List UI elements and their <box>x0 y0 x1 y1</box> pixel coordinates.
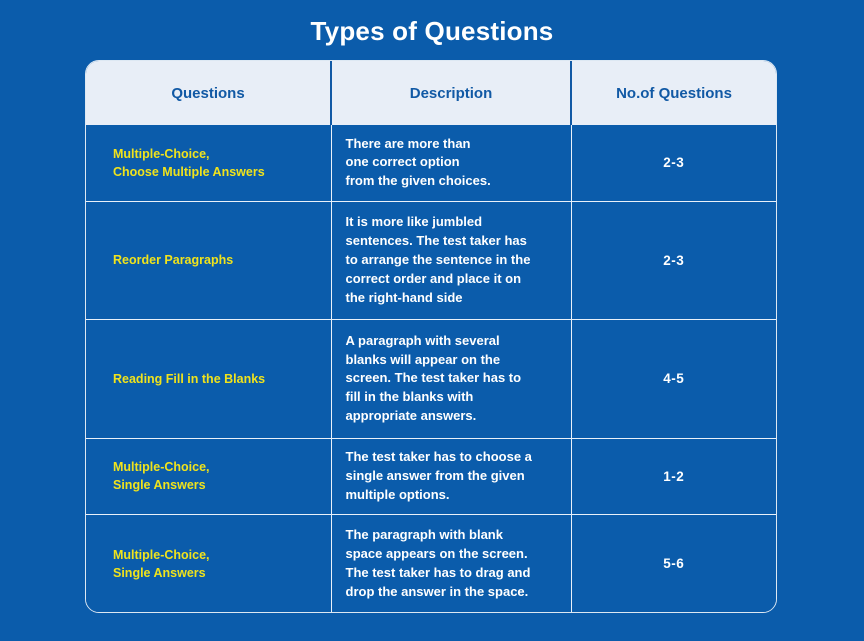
description-line: the right-hand side <box>346 289 565 308</box>
table-row: Multiple-Choice,Choose Multiple AnswersT… <box>86 125 776 201</box>
question-type-line: Multiple-Choice, <box>113 546 323 564</box>
table-header-row: Questions Description No.of Questions <box>86 61 776 125</box>
cell-question-count: 2-3 <box>571 125 776 201</box>
question-type-line: Single Answers <box>113 564 323 582</box>
description-line: blanks will appear on the <box>346 351 565 370</box>
table-body: Multiple-Choice,Choose Multiple AnswersT… <box>86 125 776 612</box>
description-line: to arrange the sentence in the <box>346 251 565 270</box>
description-line: It is more like jumbled <box>346 213 565 232</box>
question-types-table-container: Questions Description No.of Questions Mu… <box>85 60 777 613</box>
description-line: screen. The test taker has to <box>346 369 565 388</box>
description-line: appropriate answers. <box>346 407 565 426</box>
cell-question-type: Reorder Paragraphs <box>86 201 331 319</box>
cell-question-type: Multiple-Choice,Single Answers <box>86 515 331 612</box>
cell-description: The paragraph with blankspace appears on… <box>331 515 571 612</box>
column-header-count: No.of Questions <box>571 61 776 125</box>
column-header-questions: Questions <box>86 61 331 125</box>
description-line: single answer from the given <box>346 467 565 486</box>
table-row: Reorder ParagraphsIt is more like jumble… <box>86 201 776 319</box>
description-line: The test taker has to choose a <box>346 448 565 467</box>
table-header: Questions Description No.of Questions <box>86 61 776 125</box>
description-line: multiple options. <box>346 486 565 505</box>
question-type-line: Reading Fill in the Blanks <box>113 370 323 388</box>
description-line: one correct option <box>346 153 565 172</box>
question-type-line: Reorder Paragraphs <box>113 251 323 269</box>
cell-question-type: Reading Fill in the Blanks <box>86 320 331 438</box>
cell-description: It is more like jumbledsentences. The te… <box>331 201 571 319</box>
description-line: fill in the blanks with <box>346 388 565 407</box>
cell-question-type: Multiple-Choice,Choose Multiple Answers <box>86 125 331 201</box>
description-line: space appears on the screen. <box>346 545 565 564</box>
question-type-line: Multiple-Choice, <box>113 458 323 476</box>
infographic-page: Types of Questions Questions Description… <box>0 0 864 641</box>
cell-question-count: 1-2 <box>571 438 776 515</box>
description-line: A paragraph with several <box>346 332 565 351</box>
question-type-line: Choose Multiple Answers <box>113 163 323 181</box>
table-row: Multiple-Choice,Single AnswersThe test t… <box>86 438 776 515</box>
question-types-table: Questions Description No.of Questions Mu… <box>86 61 776 612</box>
description-line: correct order and place it on <box>346 270 565 289</box>
description-line: drop the answer in the space. <box>346 583 565 602</box>
description-line: from the given choices. <box>346 172 565 191</box>
cell-description: A paragraph with severalblanks will appe… <box>331 320 571 438</box>
cell-question-count: 4-5 <box>571 320 776 438</box>
cell-question-count: 2-3 <box>571 201 776 319</box>
description-line: The test taker has to drag and <box>346 564 565 583</box>
description-line: sentences. The test taker has <box>346 232 565 251</box>
cell-description: The test taker has to choose asingle ans… <box>331 438 571 515</box>
column-header-description: Description <box>331 61 571 125</box>
table-row: Reading Fill in the BlanksA paragraph wi… <box>86 320 776 438</box>
cell-question-type: Multiple-Choice,Single Answers <box>86 438 331 515</box>
question-type-line: Single Answers <box>113 476 323 494</box>
description-line: The paragraph with blank <box>346 526 565 545</box>
description-line: There are more than <box>346 135 565 154</box>
cell-description: There are more thanone correct optionfro… <box>331 125 571 201</box>
question-type-line: Multiple-Choice, <box>113 145 323 163</box>
page-title: Types of Questions <box>0 0 864 46</box>
table-row: Multiple-Choice,Single AnswersThe paragr… <box>86 515 776 612</box>
cell-question-count: 5-6 <box>571 515 776 612</box>
